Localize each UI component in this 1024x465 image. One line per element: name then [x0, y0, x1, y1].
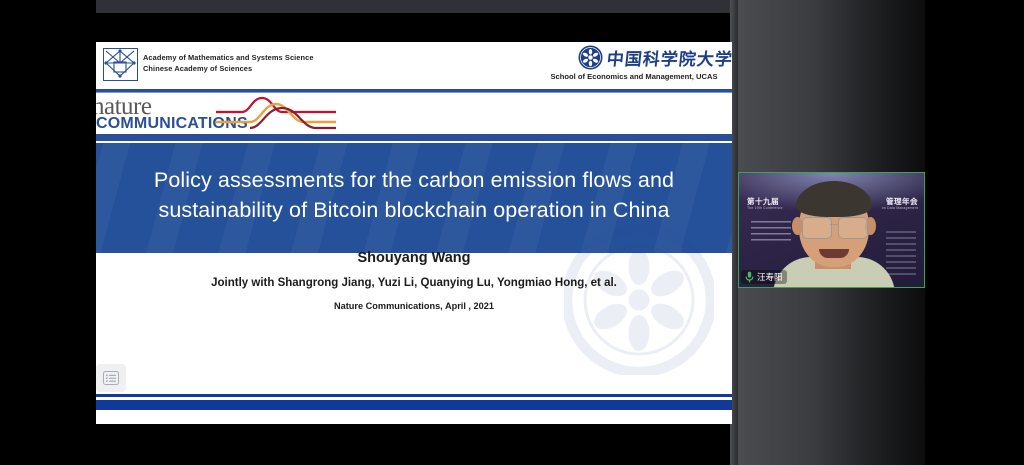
amss-line-1: Academy of Mathematics and Systems Scien… — [143, 53, 314, 64]
page-title: Policy assessments for the carbon emissi… — [96, 165, 732, 225]
nature-communications-logo: nature COMMUNICATIONS — [96, 94, 732, 134]
footer-bar-top — [96, 394, 732, 397]
ucas-school-subtitle: School of Economics and Management, UCAS — [536, 72, 732, 81]
nature-rule-thick — [96, 134, 732, 141]
journal-citation: Nature Communications, April , 2021 — [96, 301, 732, 311]
participant-glasses-right — [838, 217, 868, 239]
participant-video-tile[interactable]: 第十九届 管理年会 The 19th Conference on Data Ma… — [738, 172, 925, 288]
shared-screen-slide[interactable]: Academy of Mathematics and Systems Scien… — [96, 42, 732, 424]
banner-right-text-block — [886, 231, 916, 277]
participant-glasses-bridge — [830, 224, 838, 225]
ucas-chinese-name: 中国科学院大学 — [606, 45, 732, 70]
participant-name: 汪寿阳 — [757, 271, 783, 283]
ucas-emblem-logo — [578, 45, 603, 70]
presenter-name: Shouyang Wang — [96, 250, 732, 266]
banner-en-right: on Data Management — [882, 206, 918, 210]
co-authors: Jointly with Shangrong Jiang, Yuzi Li, Q… — [96, 277, 732, 289]
amss-line-2: Chinese Academy of Sciences — [143, 64, 314, 75]
list-menu-icon — [103, 371, 119, 385]
title-line-1: Policy assessments for the carbon emissi… — [118, 165, 710, 195]
title-line-2: sustainability of Bitcoin blockchain ope… — [118, 195, 710, 225]
footer-bar-bottom — [96, 400, 732, 410]
meeting-top-toolbar — [96, 0, 732, 13]
microphone-icon — [745, 271, 754, 283]
header-rule-secondary — [96, 92, 732, 93]
zoom-meeting-window: Academy of Mathematics and Systems Scien… — [0, 0, 1024, 465]
amss-geometric-logo — [103, 48, 138, 81]
banner-side-text-block — [751, 221, 791, 243]
banner-en-left: The 19th Conference — [747, 206, 783, 210]
participant-mouth — [819, 249, 849, 258]
slide-list-menu-button[interactable] — [96, 364, 126, 392]
nature-curve-graphic — [216, 96, 336, 132]
participant-name-badge: 汪寿阳 — [741, 270, 787, 284]
slide-header: Academy of Mathematics and Systems Scien… — [96, 42, 732, 88]
participant-glasses-left — [802, 217, 832, 239]
ucas-plum-blossom-watermark — [564, 225, 714, 375]
amss-institution-name: Academy of Mathematics and Systems Scien… — [143, 53, 314, 74]
